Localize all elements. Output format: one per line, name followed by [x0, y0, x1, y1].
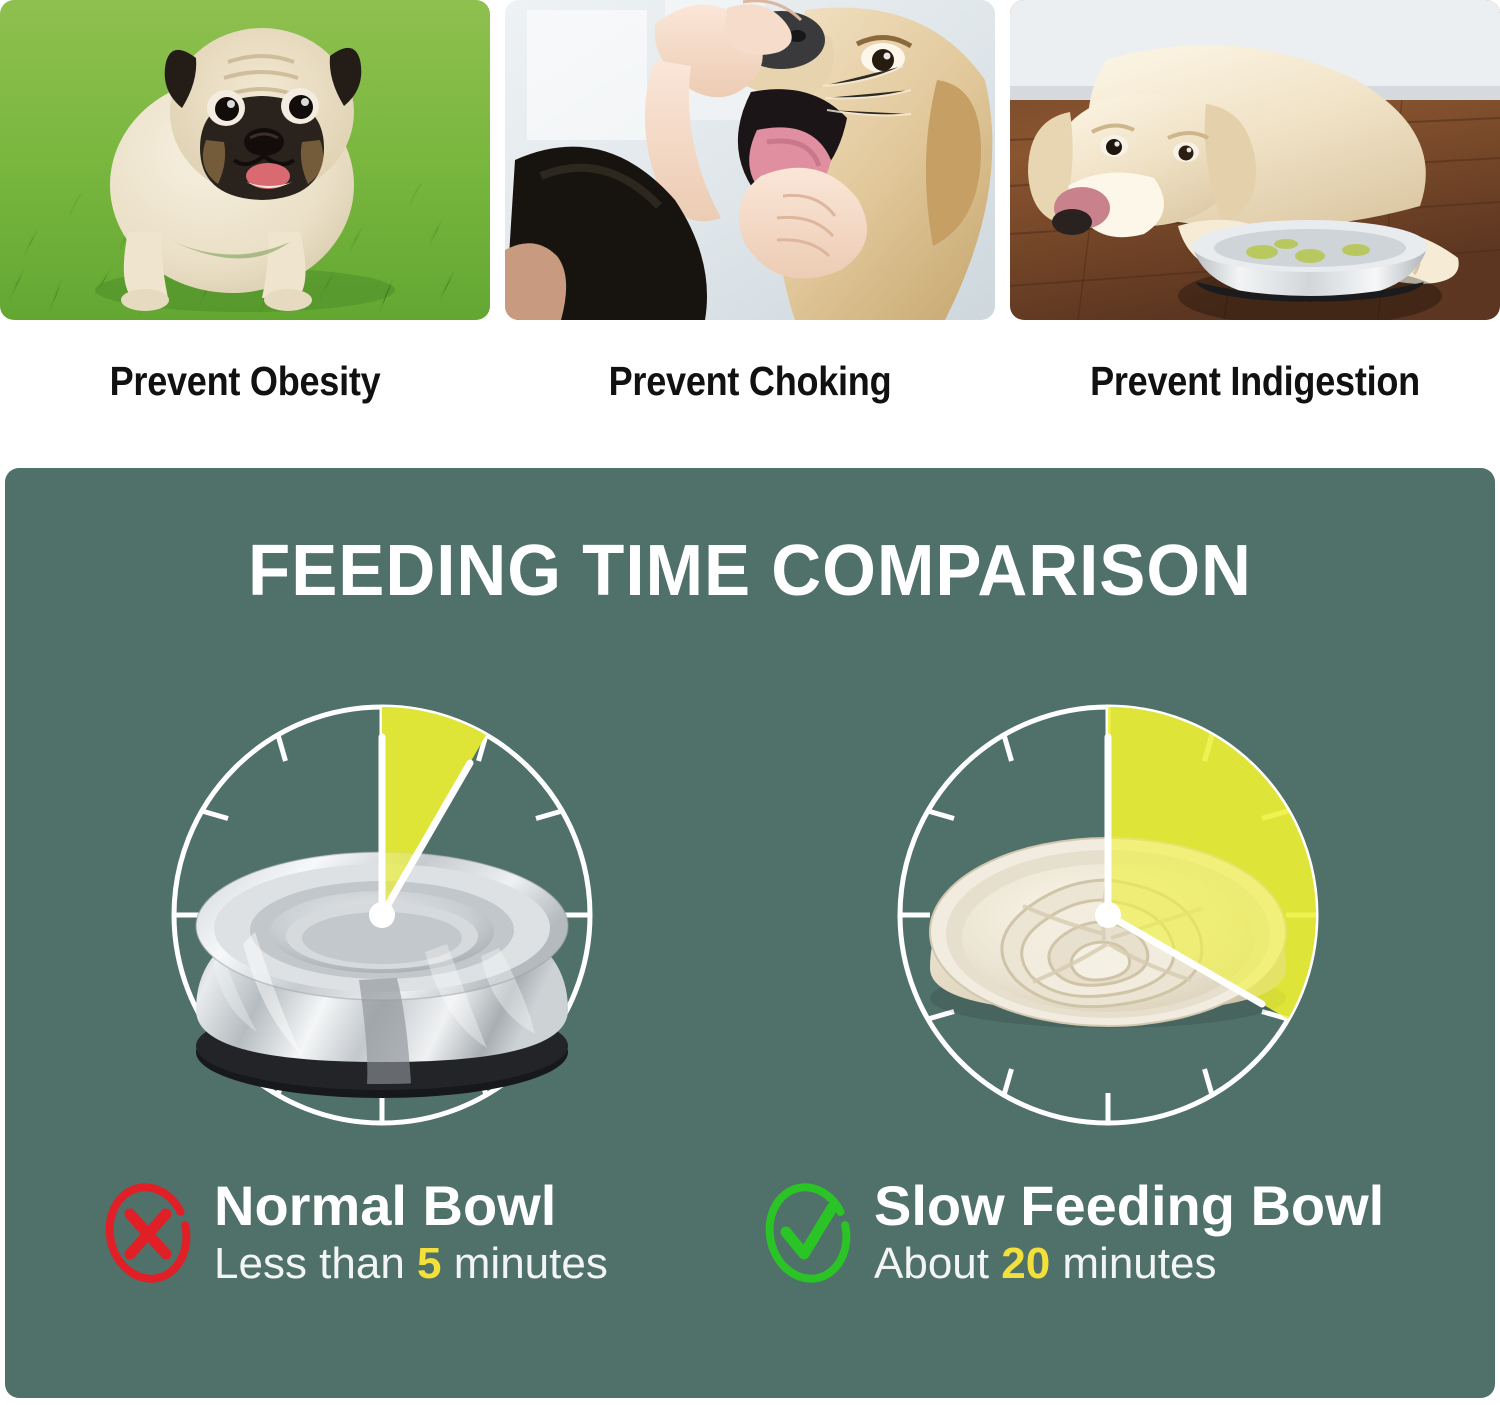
- duration-value: 20: [1001, 1239, 1050, 1288]
- benefit-card-choking: Prevent Choking: [505, 0, 995, 405]
- normal-bowl-verdict: Normal Bowl Less than 5 minutes: [100, 1158, 608, 1308]
- benefit-card-obesity: Prevent Obesity: [0, 0, 490, 405]
- benefit-card-indigestion: Prevent Indigestion: [1010, 0, 1500, 405]
- photo-indigestion-icon: [1010, 0, 1500, 320]
- photo-choking-icon: [505, 0, 995, 320]
- duration-suffix: minutes: [454, 1239, 608, 1288]
- benefit-caption: Prevent Choking: [534, 358, 965, 405]
- normal-bowl-duration: Less than 5 minutes: [214, 1239, 608, 1288]
- duration-prefix: Less than: [214, 1239, 405, 1288]
- slow-feeding-bowl-title: Slow Feeding Bowl: [874, 1177, 1384, 1235]
- feeding-time-comparison-panel: FEEDING TIME COMPARISON: [5, 468, 1495, 1398]
- photo-pug-icon: [0, 0, 490, 320]
- duration-value: 5: [417, 1239, 441, 1288]
- page-title: FEEDING TIME COMPARISON: [35, 530, 1465, 612]
- slow-feeding-bowl-text: Slow Feeding Bowl About 20 minutes: [874, 1177, 1384, 1289]
- normal-bowl-clock: [147, 680, 617, 1150]
- benefits-strip: Prevent Obesity: [0, 0, 1500, 440]
- cross-mark-icon: [100, 1178, 196, 1288]
- benefit-caption: Prevent Indigestion: [1039, 358, 1470, 405]
- slow-feeding-bowl-clock: [873, 680, 1343, 1150]
- check-mark-icon: [760, 1178, 856, 1288]
- duration-prefix: About: [874, 1239, 989, 1288]
- slow-feeding-bowl-verdict: Slow Feeding Bowl About 20 minutes: [760, 1158, 1384, 1308]
- normal-bowl-text: Normal Bowl Less than 5 minutes: [214, 1177, 608, 1289]
- benefit-caption: Prevent Obesity: [29, 358, 460, 405]
- slow-feeding-bowl-duration: About 20 minutes: [874, 1239, 1384, 1288]
- normal-bowl-title: Normal Bowl: [214, 1177, 608, 1235]
- duration-suffix: minutes: [1062, 1239, 1216, 1288]
